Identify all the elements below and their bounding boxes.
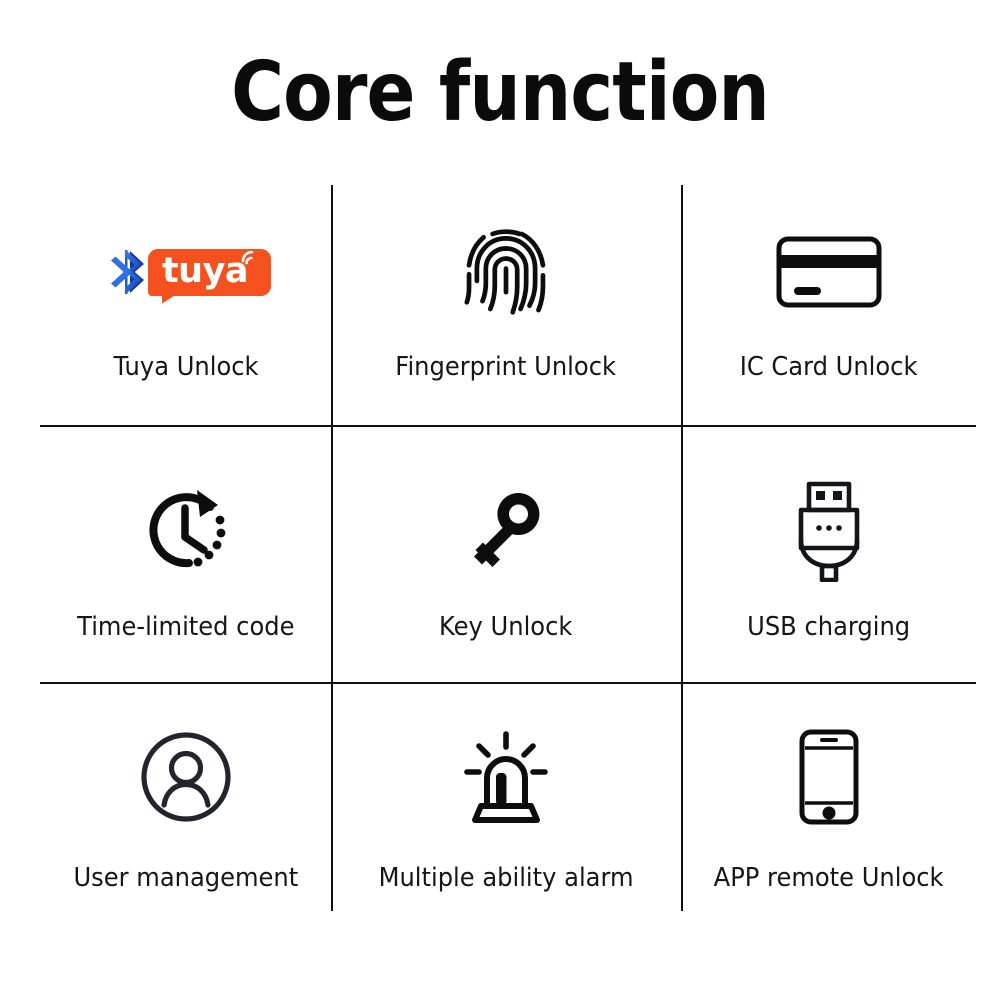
- siren-alarm-icon: [331, 682, 681, 852]
- feature-cell-user-management[interactable]: User management: [40, 682, 331, 911]
- feature-cell-tuya-unlock[interactable]: tuya Tuya Unlock: [40, 185, 331, 425]
- tuya-bluetooth-logo: tuya: [40, 185, 331, 347]
- core-function-infographic: { "page": { "title": "Core function", "b…: [0, 0, 1000, 1000]
- feature-label: Time-limited code: [77, 613, 294, 642]
- feature-label: USB charging: [747, 613, 910, 642]
- feature-label: Fingerprint Unlock: [396, 353, 617, 382]
- clock-arrow-icon: [40, 425, 331, 609]
- feature-cell-usb-charging[interactable]: USB charging: [681, 425, 976, 682]
- user-circle-icon: [40, 682, 331, 852]
- tuya-wordmark-text: tuya: [162, 254, 248, 289]
- key-icon: [331, 425, 681, 609]
- tuya-wordmark-badge: tuya: [148, 249, 271, 296]
- feature-cell-app-remote-unlock[interactable]: APP remote Unlock: [681, 682, 976, 911]
- tuya-badge-tail: [162, 294, 178, 304]
- feature-label: Tuya Unlock: [113, 353, 258, 382]
- feature-cell-time-limited-code[interactable]: Time-limited code: [40, 425, 331, 682]
- feature-label: Multiple ability alarm: [379, 864, 634, 893]
- usb-plug-icon: [681, 425, 976, 609]
- smartphone-icon: [681, 682, 976, 852]
- feature-label: APP remote Unlock: [714, 864, 944, 893]
- page-title: Core function: [60, 52, 940, 134]
- feature-cell-key-unlock[interactable]: Key Unlock: [331, 425, 681, 682]
- feature-label: IC Card Unlock: [740, 353, 918, 382]
- bluetooth-icon: [100, 245, 154, 299]
- feature-cell-multiple-ability-alarm[interactable]: Multiple ability alarm: [331, 682, 681, 911]
- tuya-wifi-arc-icon: [237, 248, 259, 278]
- feature-cell-fingerprint-unlock[interactable]: Fingerprint Unlock: [331, 185, 681, 425]
- feature-grid: tuya Tuya Unlock: [40, 185, 976, 911]
- fingerprint-icon: [331, 185, 681, 347]
- feature-label: Key Unlock: [439, 613, 572, 642]
- feature-label: User management: [73, 864, 298, 893]
- ic-card-icon: [681, 185, 976, 347]
- feature-cell-ic-card-unlock[interactable]: IC Card Unlock: [681, 185, 976, 425]
